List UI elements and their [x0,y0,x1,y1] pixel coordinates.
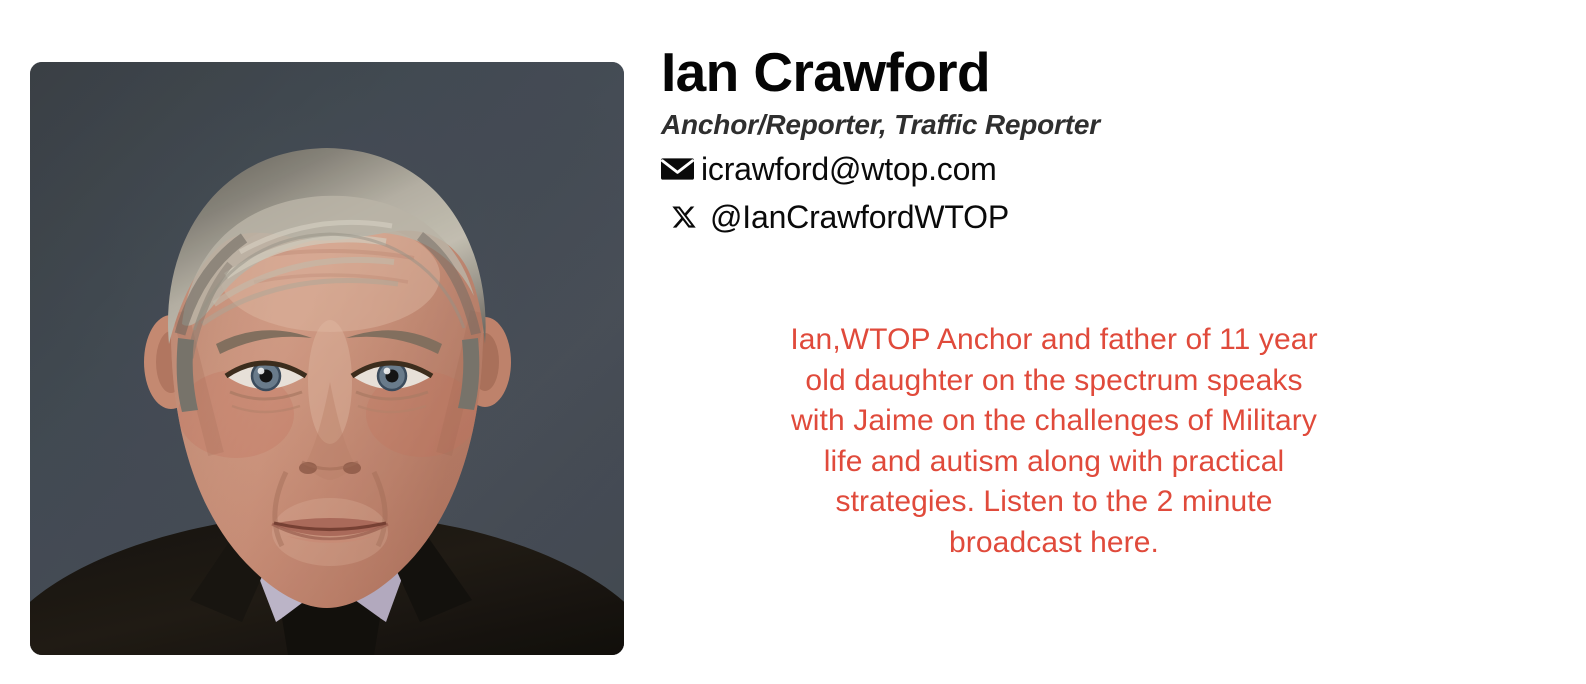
email-address[interactable]: icrawford@wtop.com [701,153,997,185]
profile-photo [30,62,624,655]
blurb-text: Ian,WTOP Anchor and father of 11 year ol… [790,320,1318,563]
social-row[interactable]: @IanCrawfordWTOP [661,201,1361,233]
page-title: Ian Crawford [661,44,1361,101]
profile-card: Ian Crawford Anchor/Reporter, Traffic Re… [0,0,1586,684]
social-handle[interactable]: @IanCrawfordWTOP [710,201,1009,233]
email-row[interactable]: icrawford@wtop.com [661,153,1361,185]
headshot-illustration [30,62,624,655]
profile-role: Anchor/Reporter, Traffic Reporter [661,109,1361,141]
profile-info: Ian Crawford Anchor/Reporter, Traffic Re… [661,44,1361,233]
envelope-icon [661,156,694,182]
x-twitter-icon [671,204,697,230]
